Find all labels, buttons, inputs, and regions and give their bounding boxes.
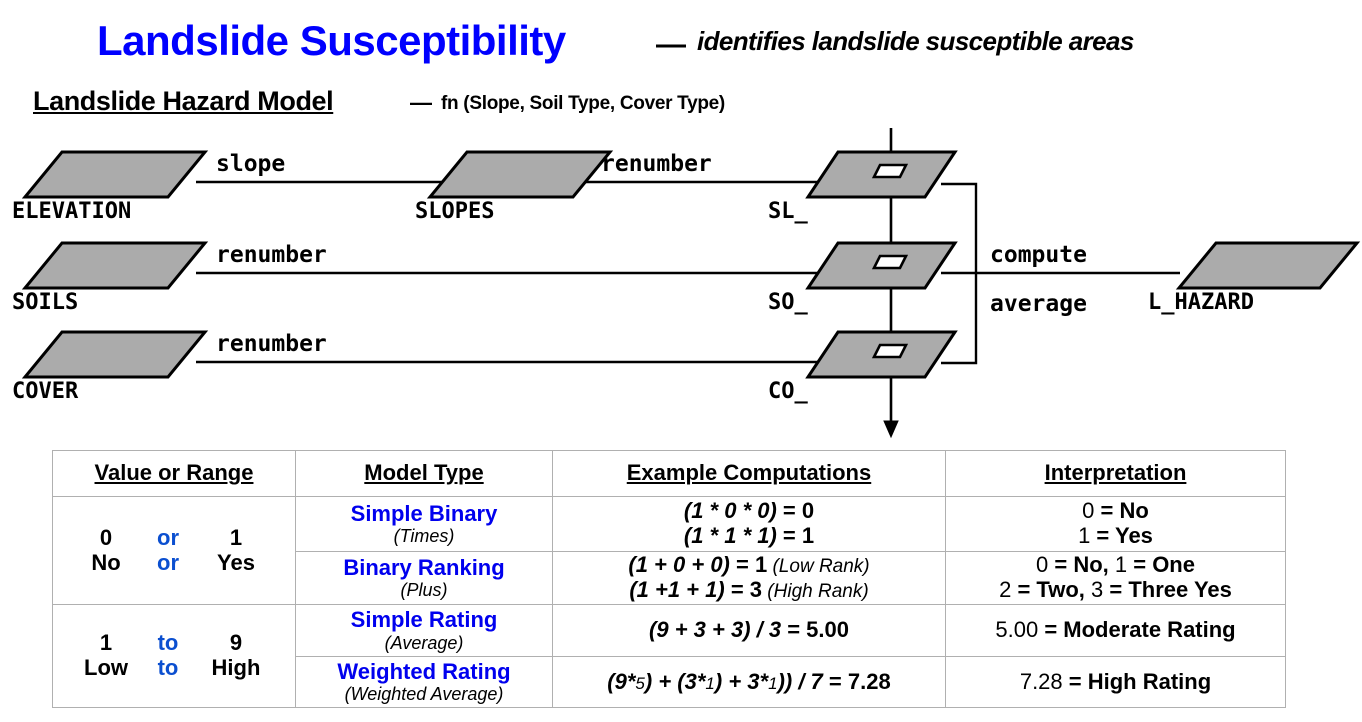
calc-1-res2: = 3 (725, 577, 762, 602)
value-range-grid-binary: 0or1 NoorYes (75, 526, 273, 575)
interpretation-cell-simple-rating: 5.00 = Moderate Rating (946, 605, 1286, 657)
map-label-soils: SOILS (12, 290, 78, 315)
table-header-cell-model-type: Model Type (296, 451, 553, 497)
interpretation-cell-binary-ranking: 0 = No, 1 = One 2 = Two, 3 = Three Yes (946, 552, 1286, 605)
model-type-operator: (Average) (300, 633, 548, 653)
value-range-1-l1-left: 1 (75, 631, 137, 656)
interp-0-l2-num: 1 (1078, 523, 1090, 548)
operation-label-slope: slope (216, 151, 285, 177)
value-range-grid-rating: 1to9 LowtoHigh (75, 631, 273, 680)
title-dash: — (656, 28, 686, 62)
value-range-0-l2-right: Yes (199, 551, 273, 576)
table-row: 0or1 NoorYes Simple Binary (Times) (1 * … (53, 497, 1286, 552)
table-header-cell-value-or-range: Value or Range (53, 451, 296, 497)
interp-1-l1-num: 0 (1036, 552, 1048, 577)
model-type-cell-weighted-rating: Weighted Rating (Weighted Average) (296, 657, 553, 708)
map-label-co: CO_ (768, 379, 808, 404)
model-type-operator: (Weighted Average) (300, 684, 548, 704)
interpretation-cell-weighted-rating: 7.28 = High Rating (946, 657, 1286, 708)
map-layer-l-hazard: L_HAZARD (1148, 243, 1357, 315)
table-row: 1to9 LowtoHigh Simple Rating (Average) (… (53, 605, 1286, 657)
computation-cell-binary-ranking: (1 + 0 + 0) = 1 (Low Rank) (1 +1 + 1) = … (553, 552, 946, 605)
map-layer-co: CO_ (768, 332, 955, 404)
table-header-cell-example-computations: Example Computations (553, 451, 946, 497)
value-range-1-l1-mid: to (137, 631, 199, 656)
computation-cell-simple-binary: (1 * 0 * 0) = 0 (1 * 1 * 1) = 1 (553, 497, 946, 552)
model-type-name: Simple Rating (300, 608, 548, 633)
map-label-cover: COVER (12, 379, 79, 404)
computation-cell-weighted-rating: (9*5) + (3*1) + 3*1)) / 7 = 7.28 (553, 657, 946, 708)
calc-3-mid-2: ) + 3* (715, 669, 768, 694)
calc-1-line1: (1 + 0 + 0) (628, 552, 730, 577)
operation-label-renumber-2: renumber (216, 242, 327, 268)
operation-label-compute: compute (990, 242, 1087, 268)
model-type-cell-simple-rating: Simple Rating (Average) (296, 605, 553, 657)
interp-2-l1-num: 5.00 (995, 617, 1038, 642)
computation-cell-simple-rating: (9 + 3 + 3) / 3 = 5.00 (553, 605, 946, 657)
value-range-cell-rating: 1to9 LowtoHigh (53, 605, 296, 708)
map-layer-slopes: SLOPES (415, 152, 610, 224)
table-header-row: Value or Range Model Type Example Comput… (53, 451, 1286, 497)
stack-arrowhead (884, 421, 898, 437)
calc-3-suffix: )) / 7 (778, 669, 823, 694)
value-range-0-l1-left: 0 (75, 526, 137, 551)
interp-1-l2-num: 2 (999, 577, 1011, 602)
map-label-elevation: ELEVATION (12, 199, 131, 224)
calc-0-res1: = 0 (777, 498, 814, 523)
map-layer-so: SO_ (768, 243, 955, 315)
value-range-1-l2-left: Low (75, 656, 137, 681)
model-type-operator: (Plus) (300, 580, 548, 600)
value-range-1-l1-right: 9 (199, 631, 273, 656)
map-label-l-hazard: L_HAZARD (1148, 290, 1254, 315)
model-heading: Landslide Hazard Model (33, 86, 333, 117)
operation-label-average: average (990, 291, 1087, 317)
value-range-cell-binary: 0or1 NoorYes (53, 497, 296, 605)
operation-label-renumber-1: renumber (601, 151, 712, 177)
model-type-cell-simple-binary: Simple Binary (Times) (296, 497, 553, 552)
slide-title-row: Landslide Susceptibility — identifies la… (0, 8, 1362, 68)
calc-3-weight-3: 1 (768, 674, 777, 693)
model-type-name: Binary Ranking (300, 556, 548, 581)
interp-1-l1-txt2: = One (1127, 552, 1195, 577)
map-layer-soils: SOILS (12, 243, 205, 315)
map-layer-cover: COVER (12, 332, 205, 404)
calc-3-prefix: (9* (607, 669, 635, 694)
value-range-0-l2-left: No (75, 551, 137, 576)
page-subtitle: identifies landslide susceptible areas (697, 26, 1134, 57)
calc-0-line1: (1 * 0 * 0) (684, 498, 777, 523)
calc-1-line2: (1 +1 + 1) (629, 577, 724, 602)
calc-0-line2: (1 * 1 * 1) (684, 523, 777, 548)
model-heading-row: Landslide Hazard Model — fn (Slope, Soil… (0, 86, 1362, 120)
flow-connectors (196, 182, 1180, 363)
interp-1-l1-num2: 1 (1115, 552, 1127, 577)
interp-1-l2-txt: = Two, (1011, 577, 1091, 602)
operation-label-renumber-3: renumber (216, 331, 327, 357)
value-range-1-l2-mid: to (137, 656, 199, 681)
model-type-operator: (Times) (300, 526, 548, 546)
interp-2-l1-txt: = Moderate Rating (1038, 617, 1235, 642)
model-types-table: Value or Range Model Type Example Comput… (52, 450, 1286, 708)
table-header-cell-interpretation: Interpretation (946, 451, 1286, 497)
map-layer-elevation: ELEVATION (12, 152, 205, 224)
model-type-cell-binary-ranking: Binary Ranking (Plus) (296, 552, 553, 605)
map-label-so: SO_ (768, 290, 808, 315)
calc-0-res2: = 1 (777, 523, 814, 548)
calc-2-line1: (9 + 3 + 3) / 3 (649, 617, 781, 642)
map-label-slopes: SLOPES (415, 199, 494, 224)
calc-1-note1: (Low Rank) (767, 556, 869, 577)
calc-2-res1: = 5.00 (781, 617, 849, 642)
model-type-name: Weighted Rating (300, 660, 548, 685)
calc-1-note2: (High Rank) (762, 581, 869, 602)
interp-0-l1-txt: = No (1094, 498, 1148, 523)
model-formula: fn (Slope, Soil Type, Cover Type) (441, 93, 725, 115)
interp-3-l1-txt: = High Rating (1063, 669, 1212, 694)
interpretation-cell-simple-binary: 0 = No 1 = Yes (946, 497, 1286, 552)
interp-0-l2-txt: = Yes (1090, 523, 1153, 548)
slide-canvas: Landslide Susceptibility — identifies la… (0, 0, 1362, 722)
interp-3-l1-num: 7.28 (1020, 669, 1063, 694)
landslide-hazard-flow-diagram: ELEVATION SLOPES SL_ SOILS (0, 125, 1362, 445)
model-heading-dash: — (410, 90, 432, 116)
value-range-0-l2-mid: or (137, 551, 199, 576)
interp-1-l2-txt2: = Three Yes (1103, 577, 1232, 602)
interp-1-l2-num2: 3 (1091, 577, 1103, 602)
calc-3-weight-1: 5 (635, 674, 644, 693)
map-layer-sl: SL_ (768, 152, 955, 224)
calc-3-mid-1: ) + (3* (645, 669, 706, 694)
value-range-0-l1-mid: or (137, 526, 199, 551)
calc-3-res1: = 7.28 (823, 669, 891, 694)
value-range-0-l1-right: 1 (199, 526, 273, 551)
interp-0-l1-num: 0 (1082, 498, 1094, 523)
interp-1-l1-txt: = No, (1048, 552, 1115, 577)
page-title: Landslide Susceptibility (97, 17, 566, 65)
calc-1-res1: = 1 (730, 552, 767, 577)
value-range-1-l2-right: High (199, 656, 273, 681)
model-type-name: Simple Binary (300, 502, 548, 527)
map-label-sl: SL_ (768, 199, 808, 224)
calc-3-weight-2: 1 (705, 674, 714, 693)
